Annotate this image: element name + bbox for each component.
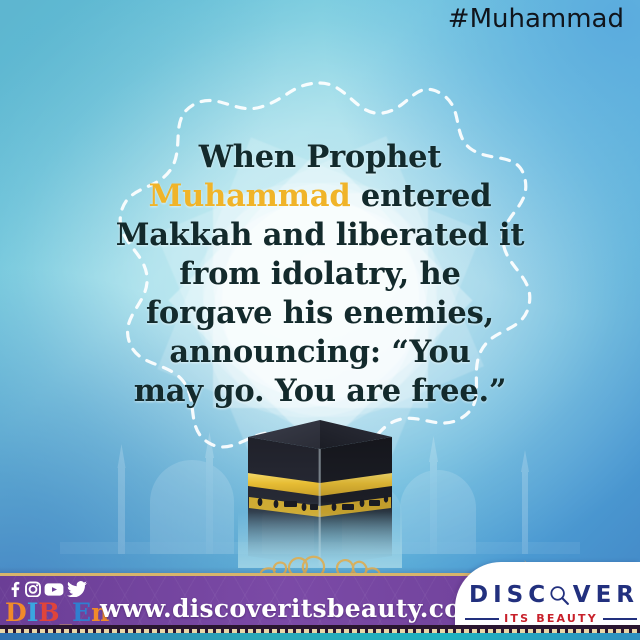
- magnifier-icon: [549, 584, 570, 607]
- handle-char-3: B: [38, 598, 59, 627]
- quote-line-3: Makkah and liberated it: [105, 216, 535, 255]
- twitter-icon[interactable]: [67, 580, 87, 597]
- quote-line-5: forgave his enemies,: [105, 294, 535, 333]
- quote-line-2-rest: entered: [351, 178, 492, 214]
- brand-tagline: ITS BEAUTY: [465, 612, 637, 625]
- bottom-strips: [0, 625, 640, 640]
- quote-line-6: announcing: “You: [105, 333, 535, 372]
- tagline-rule-right: [603, 618, 637, 620]
- quote-line-2: Muhammad entered: [105, 177, 535, 216]
- quote-line-7: may go. You are free.”: [105, 372, 535, 411]
- youtube-icon[interactable]: [44, 581, 64, 597]
- instagram-icon[interactable]: [25, 581, 41, 597]
- bottom-teal-strip: [0, 633, 640, 640]
- social-icons-group: [7, 580, 87, 597]
- hashtag-label: #Muhammad: [448, 4, 624, 34]
- website-url[interactable]: www.discoveritsbeauty.com: [100, 594, 450, 623]
- handle-char-2: I: [27, 598, 39, 627]
- social-media-quote-card: #Muhammad When Prophet Muhammad entered …: [0, 0, 640, 640]
- handle-char-5: E: [72, 598, 91, 627]
- quote-line-4: from idolatry, he: [105, 255, 535, 294]
- tagline-rule-left: [465, 618, 499, 620]
- facebook-icon[interactable]: [7, 581, 22, 597]
- tagline-text: ITS BEAUTY: [504, 612, 598, 625]
- quote-highlight-word: Muhammad: [149, 178, 351, 214]
- handle-char-1: D: [5, 598, 27, 627]
- brand-logo-word-post: VER: [573, 582, 639, 608]
- quote-text: When Prophet Muhammad entered Makkah and…: [105, 138, 535, 411]
- kaaba-illustration: [238, 416, 402, 568]
- brand-logo-word-pre: DISC: [469, 582, 550, 608]
- brand-logo-wordmark: DISC VER: [469, 582, 639, 608]
- quote-line-1: When Prophet: [105, 138, 535, 177]
